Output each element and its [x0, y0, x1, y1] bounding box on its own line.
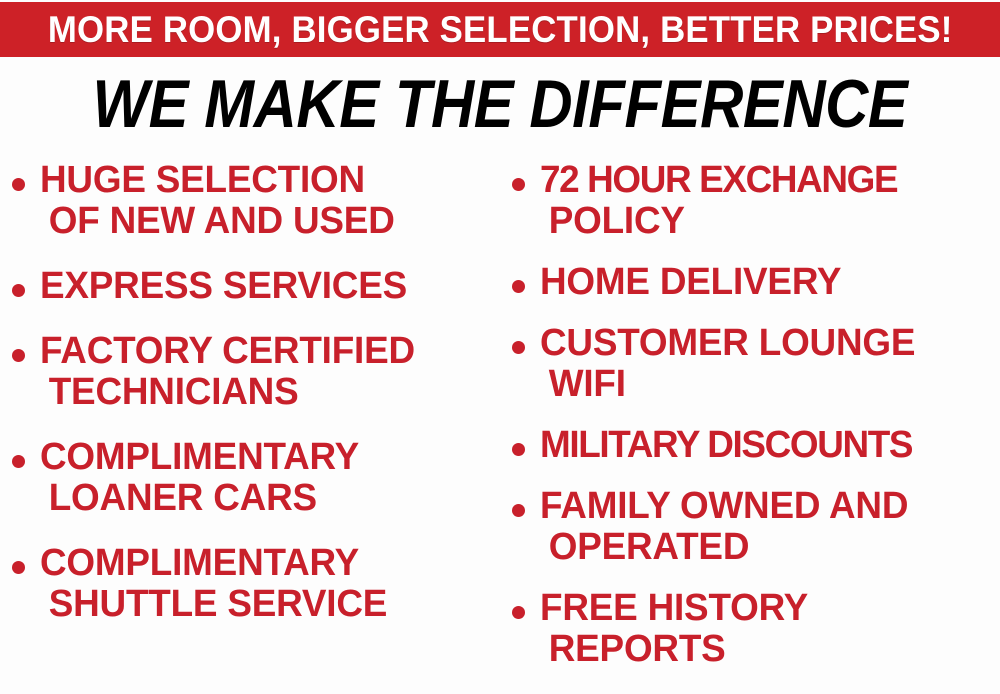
list-item: FREE HISTORY REPORTS: [512, 588, 1000, 670]
list-item-text: CUSTOMER LOUNGE WIFI: [540, 323, 986, 405]
list-item-text: COMPLIMENTARY SHUTTLE SERVICE: [40, 543, 490, 625]
list-item-text: FACTORY CERTIFIED TECHNICIANS: [40, 331, 490, 413]
list-item-line-2: OF NEW AND USED: [40, 201, 490, 242]
bullet-dot-icon: [12, 349, 25, 362]
list-item: COMPLIMENTARY LOANER CARS: [12, 437, 504, 519]
bullet-dot-icon: [12, 178, 25, 191]
list-item-text: HUGE SELECTION OF NEW AND USED: [40, 160, 490, 242]
list-item-line-1: 72 HOUR EXCHANGE: [540, 159, 897, 201]
list-item-line-2: LOANER CARS: [40, 478, 490, 519]
bullet-dot-icon: [512, 443, 525, 456]
list-item-line-1: HUGE SELECTION: [40, 159, 365, 201]
list-item: HUGE SELECTION OF NEW AND USED: [12, 160, 504, 242]
list-item-text: FREE HISTORY REPORTS: [540, 588, 986, 670]
list-item-text: EXPRESS SERVICES: [40, 266, 490, 307]
list-item: COMPLIMENTARY SHUTTLE SERVICE: [12, 543, 504, 625]
list-item-line-1: COMPLIMENTARY: [40, 436, 359, 478]
list-item-line-1: CUSTOMER LOUNGE: [540, 322, 915, 364]
advertisement-poster: MORE ROOM, BIGGER SELECTION, BETTER PRIC…: [0, 0, 1000, 694]
list-item: 72 HOUR EXCHANGE POLICY: [512, 160, 1000, 242]
list-item: FAMILY OWNED AND OPERATED: [512, 486, 1000, 568]
benefits-column-left: HUGE SELECTION OF NEW AND USED EXPRESS S…: [12, 160, 504, 694]
main-headline: WE MAKE THE DIFFERENCE: [0, 70, 1000, 138]
list-item-line-2: WIFI: [540, 364, 986, 405]
banner-headline-text: MORE ROOM, BIGGER SELECTION, BETTER PRIC…: [48, 11, 953, 48]
list-item-line-2: OPERATED: [540, 527, 986, 568]
list-item-line-1: MILITARY DISCOUNTS: [540, 424, 912, 466]
list-item-line-2: REPORTS: [540, 629, 986, 670]
list-item-line-1: FAMILY OWNED AND: [540, 485, 908, 527]
benefits-column-right: 72 HOUR EXCHANGE POLICY HOME DELIVERY CU…: [512, 160, 1000, 694]
list-item-text: MILITARY DISCOUNTS: [540, 425, 986, 466]
bullet-dot-icon: [512, 504, 525, 517]
bullet-dot-icon: [512, 341, 525, 354]
list-item-text: HOME DELIVERY: [540, 262, 986, 303]
list-item-line-1: EXPRESS SERVICES: [40, 265, 407, 307]
list-item-line-2: POLICY: [540, 201, 986, 242]
list-item: HOME DELIVERY: [512, 262, 1000, 303]
list-item-text: COMPLIMENTARY LOANER CARS: [40, 437, 490, 519]
top-banner: MORE ROOM, BIGGER SELECTION, BETTER PRIC…: [0, 2, 1000, 57]
bullet-dot-icon: [12, 561, 25, 574]
bullet-dot-icon: [12, 455, 25, 468]
list-item-line-1: COMPLIMENTARY: [40, 542, 359, 584]
bullet-dot-icon: [12, 284, 25, 297]
list-item: CUSTOMER LOUNGE WIFI: [512, 323, 1000, 405]
list-item-line-2: TECHNICIANS: [40, 372, 490, 413]
list-item-line-1: FACTORY CERTIFIED: [40, 330, 415, 372]
bullet-dot-icon: [512, 280, 525, 293]
bullet-dot-icon: [512, 178, 525, 191]
list-item-line-2: SHUTTLE SERVICE: [40, 584, 490, 625]
list-item: MILITARY DISCOUNTS: [512, 425, 1000, 466]
main-headline-text: WE MAKE THE DIFFERENCE: [93, 70, 908, 138]
list-item: FACTORY CERTIFIED TECHNICIANS: [12, 331, 504, 413]
list-item-text: 72 HOUR EXCHANGE POLICY: [540, 160, 986, 242]
list-item-text: FAMILY OWNED AND OPERATED: [540, 486, 986, 568]
list-item-line-1: HOME DELIVERY: [540, 261, 841, 303]
list-item: EXPRESS SERVICES: [12, 266, 504, 307]
bullet-dot-icon: [512, 606, 525, 619]
benefits-columns: HUGE SELECTION OF NEW AND USED EXPRESS S…: [0, 160, 1000, 694]
list-item-line-1: FREE HISTORY: [540, 587, 808, 629]
